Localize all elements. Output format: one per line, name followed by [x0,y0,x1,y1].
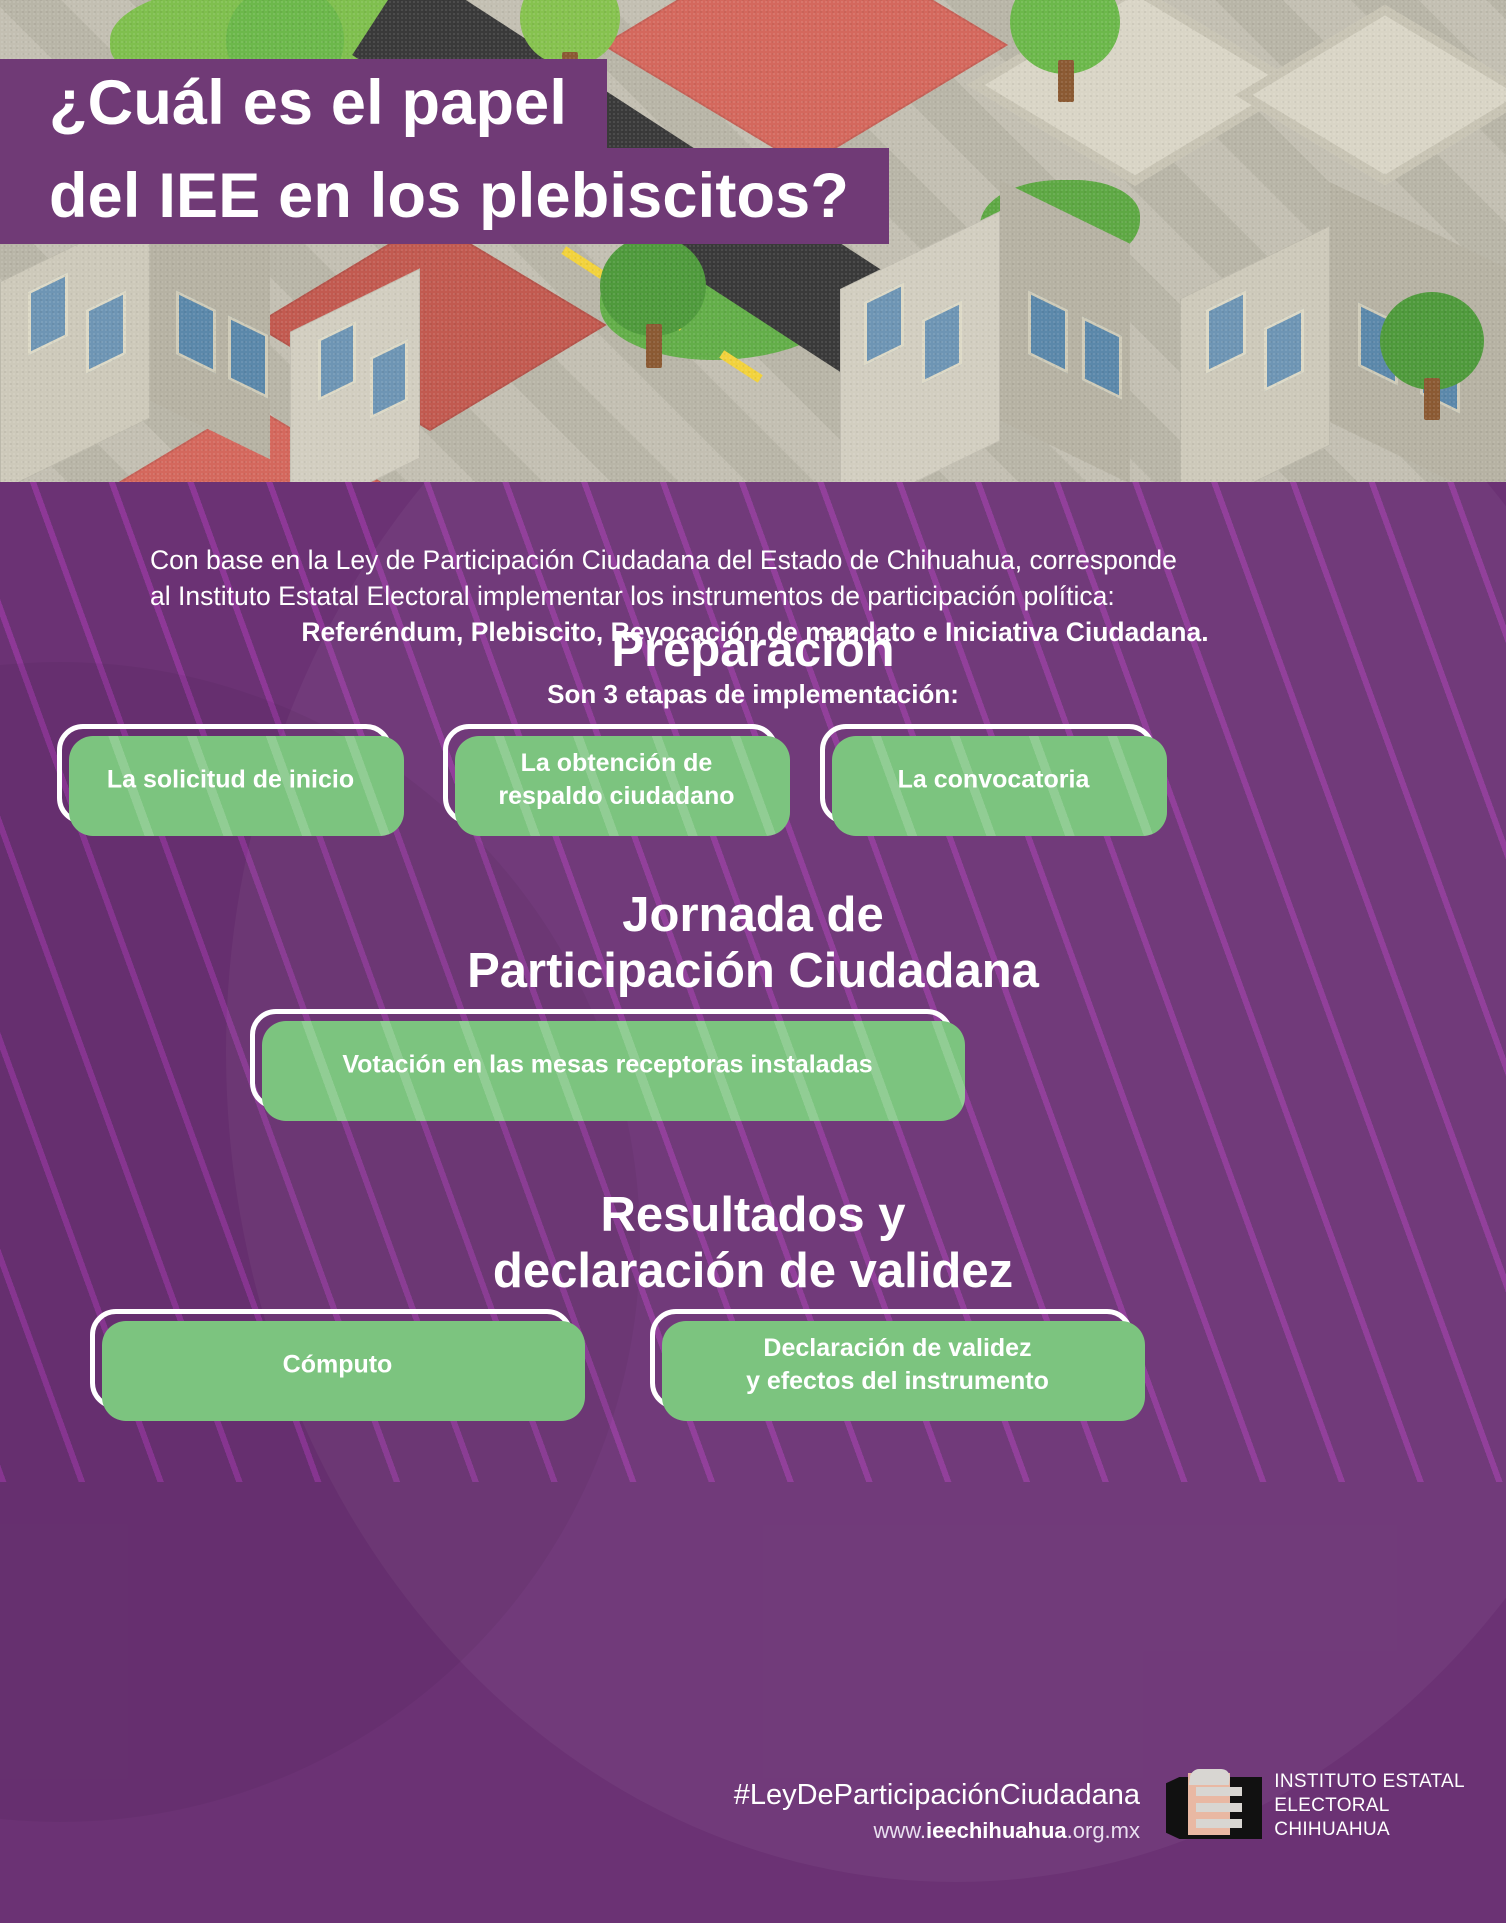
logo-bar-3 [1196,1819,1242,1828]
hero-illustration: ¿Cuál es el papel del IEE en los plebisc… [0,0,1506,482]
infographic-poster: ¿Cuál es el papel del IEE en los plebisc… [0,0,1506,1923]
footer-url-prefix: www. [873,1818,926,1843]
stage-2-box-1-label: Votación en las mesas receptoras instala… [250,1049,965,1082]
title-banner-line2: del IEE en los plebiscitos? [0,148,889,244]
ballot-box-icon [1166,1769,1260,1843]
stage-3-heading-line1: Resultados y [601,1188,906,1242]
org-name-line2: ELECTORAL CHIHUAHUA [1274,1794,1506,1842]
page-title-line1: ¿Cuál es el papel [49,72,567,135]
stage-heading-preparacion: Preparación [0,622,1506,678]
logo-bar-2 [1196,1803,1242,1812]
stage-2-heading-line2: Participación Ciudadana [467,944,1039,998]
intro-line-2: al Instituto Estatal Electoral implement… [150,578,1360,614]
stage-3-box-2[interactable]: Declaración de validez y efectos del ins… [650,1309,1145,1421]
stage-2-heading-line1: Jornada de [622,888,883,942]
stage-2-box-1[interactable]: Votación en las mesas receptoras instala… [250,1009,965,1121]
stage-1-box-2[interactable]: La obtención de respaldo ciudadano [443,724,790,836]
stage-3-box-2-label: Declaración de validez y efectos del ins… [650,1332,1145,1398]
stage-1-box-2-label: La obtención de respaldo ciudadano [443,747,790,813]
footer-url: www.ieechihuahua.org.mx [0,1818,1140,1844]
stage-3-box-1-label: Cómputo [90,1349,585,1382]
footer-url-brand: ieechihuahua [926,1818,1067,1843]
body-content: Con base en la Ley de Participación Ciud… [0,482,1506,1923]
logo-text: INSTITUTO ESTATAL ELECTORAL CHIHUAHUA [1274,1770,1506,1842]
stage-1-box-1-label: La solicitud de inicio [57,764,404,797]
ballot-paper-curl [1189,1769,1231,1785]
stage-heading-jornada: Jornada de Participación Ciudadana [0,887,1506,999]
iee-logo: INSTITUTO ESTATAL ELECTORAL CHIHUAHUA [1166,1769,1506,1843]
stage-1-box-3-label: La convocatoria [820,764,1167,797]
stage-1-box-1[interactable]: La solicitud de inicio [57,724,404,836]
logo-bar-1 [1196,1787,1242,1796]
stage-3-heading-line2: declaración de validez [493,1244,1013,1298]
footer-hashtag: #LeyDeParticipaciónCiudadana [0,1779,1140,1812]
footer-url-suffix: .org.mx [1067,1818,1140,1843]
stage-1-box-3[interactable]: La convocatoria [820,724,1167,836]
stages-label: Son 3 etapas de implementación: [0,679,1506,710]
org-name-line1: INSTITUTO ESTATAL [1274,1770,1506,1794]
intro-line-1: Con base en la Ley de Participación Ciud… [150,542,1360,578]
stage-3-box-1[interactable]: Cómputo [90,1309,585,1421]
body-section: Con base en la Ley de Participación Ciud… [0,482,1506,1923]
page-title-line2: del IEE en los plebiscitos? [49,165,849,228]
stage-heading-resultados: Resultados y declaración de validez [0,1187,1506,1299]
title-banner-line1: ¿Cuál es el papel [0,59,607,148]
stage-1-heading-line1: Preparación [611,623,894,677]
